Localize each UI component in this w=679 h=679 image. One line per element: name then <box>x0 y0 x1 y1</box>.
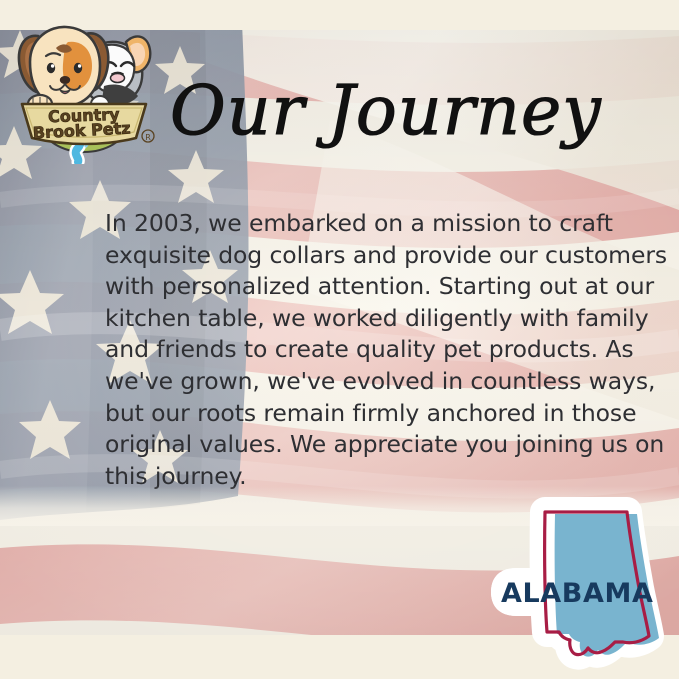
country-brook-petz-logo[interactable]: Country Brook Petz R <box>8 12 160 164</box>
registered-trademark-icon: R <box>142 130 154 142</box>
about-us-banner: Country Brook Petz R Our Journey In 2003… <box>0 0 679 679</box>
brand-banner: Country Brook Petz R <box>22 104 154 162</box>
page-title: Our Journey <box>170 56 590 166</box>
about-paragraph: In 2003, we embarked on a mission to cra… <box>105 208 670 492</box>
state-badge-label: ALABAMA <box>501 578 653 609</box>
svg-text:R: R <box>145 133 151 142</box>
page-title-text: Our Journey <box>170 72 602 151</box>
state-badge-alabama[interactable]: ALABAMA <box>487 496 679 679</box>
